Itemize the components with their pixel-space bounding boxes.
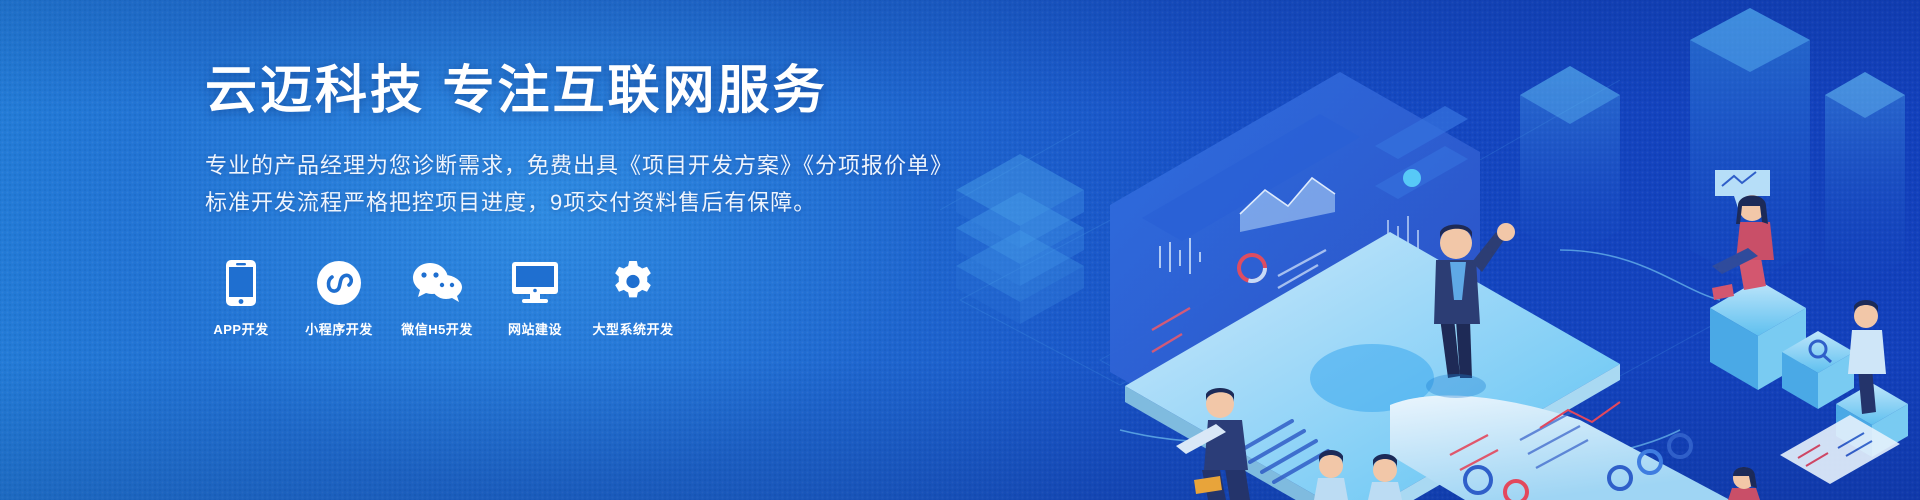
gear-icon xyxy=(610,257,656,309)
service-label: 网站建设 xyxy=(508,319,562,338)
wechat-icon xyxy=(412,257,462,309)
mini-program-icon xyxy=(317,257,361,309)
subtitle-line-1: 专业的产品经理为您诊断需求，免费出具《项目开发方案》《分项报价单》 xyxy=(205,148,1105,184)
service-item-website[interactable]: 网站建设 xyxy=(499,257,571,338)
monitor-icon xyxy=(512,257,558,309)
service-label: 大型系统开发 xyxy=(593,319,674,338)
service-label: 小程序开发 xyxy=(305,319,373,338)
service-label: 微信H5开发 xyxy=(401,319,473,338)
service-item-app[interactable]: APP开发 xyxy=(205,257,277,338)
mobile-phone-icon xyxy=(226,257,256,309)
service-label: APP开发 xyxy=(213,319,268,338)
page-title: 云迈科技 专注互联网服务 xyxy=(205,62,1105,122)
subtitle-line-2: 标准开发流程严格把控项目进度，9项交付资料售后有保障。 xyxy=(205,185,1105,221)
service-item-large-system[interactable]: 大型系统开发 xyxy=(597,257,669,338)
service-list: APP开发 小程序开发 xyxy=(205,257,1105,338)
service-item-mini-program[interactable]: 小程序开发 xyxy=(303,257,375,338)
hero-banner: 云迈科技 专注互联网服务 专业的产品经理为您诊断需求，免费出具《项目开发方案》《… xyxy=(0,0,1920,500)
service-item-wechat-h5[interactable]: 微信H5开发 xyxy=(401,257,473,338)
banner-content: 云迈科技 专注互联网服务 专业的产品经理为您诊断需求，免费出具《项目开发方案》《… xyxy=(205,62,1105,338)
